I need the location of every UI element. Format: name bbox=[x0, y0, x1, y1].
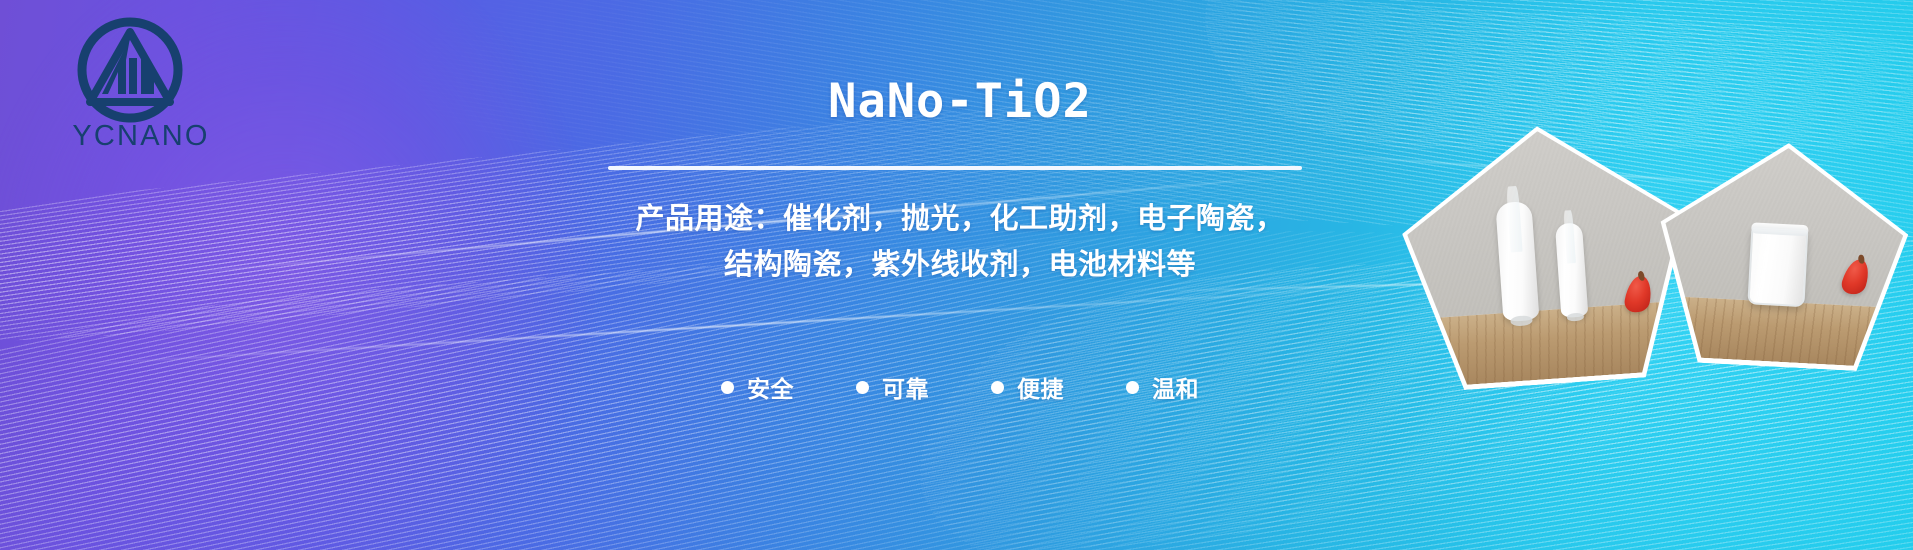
hero-content: NaNo-TiO2 产品用途：催化剂，抛光，化工助剂，电子陶瓷， 结构陶瓷，紫外… bbox=[470, 0, 1450, 550]
feature-item-convenient: 便捷 bbox=[991, 370, 1064, 404]
feature-item-reliable: 可靠 bbox=[856, 370, 929, 404]
description-line-1: 产品用途：催化剂，抛光，化工助剂，电子陶瓷， bbox=[470, 196, 1450, 242]
feature-label: 可靠 bbox=[882, 370, 929, 404]
feature-label: 安全 bbox=[747, 370, 794, 404]
logo-wordmark: YCNANO bbox=[46, 122, 236, 151]
description-line-2: 结构陶瓷，紫外线收剂，电池材料等 bbox=[470, 242, 1450, 288]
feature-label: 便捷 bbox=[1017, 370, 1064, 404]
feature-label: 温和 bbox=[1152, 370, 1199, 404]
feature-list: 安全 可靠 便捷 温和 bbox=[470, 370, 1450, 404]
ycnano-triangle-circle-logo-icon bbox=[74, 14, 186, 126]
title-divider bbox=[608, 166, 1302, 170]
bullet-dot-icon bbox=[1126, 381, 1139, 394]
company-logo[interactable]: YCNANO bbox=[46, 14, 236, 154]
beaker-rim bbox=[1751, 223, 1809, 237]
page-title: NaNo-TiO2 bbox=[470, 78, 1450, 125]
feature-item-safe: 安全 bbox=[721, 370, 794, 404]
sample-beaker bbox=[1747, 228, 1808, 308]
feature-item-mild: 温和 bbox=[1126, 370, 1199, 404]
product-description: 产品用途：催化剂，抛光，化工助剂，电子陶瓷， 结构陶瓷，紫外线收剂，电池材料等 bbox=[470, 196, 1450, 288]
bullet-dot-icon bbox=[721, 381, 734, 394]
bullet-dot-icon bbox=[991, 381, 1004, 394]
nano-tio2-product-banner: YCNANO NaNo-TiO2 产品用途：催化剂，抛光，化工助剂，电子陶瓷， … bbox=[0, 0, 1913, 550]
bullet-dot-icon bbox=[856, 381, 869, 394]
